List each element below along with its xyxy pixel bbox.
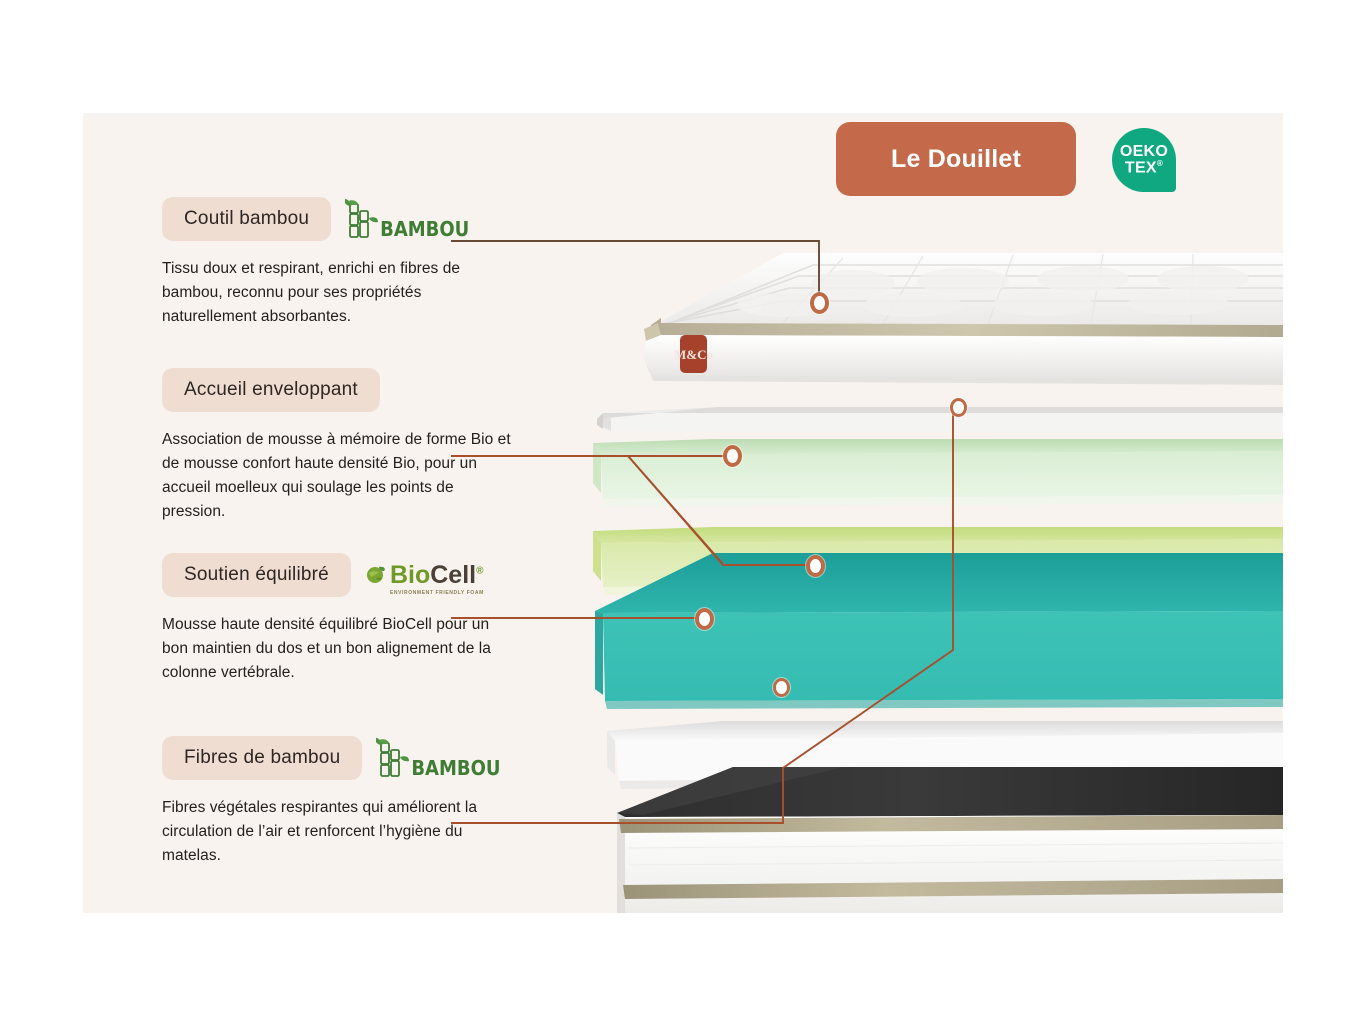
bamboo-icon xyxy=(345,197,379,241)
hotspot-bamboo-cover[interactable] xyxy=(810,292,829,314)
biocell-tagline: ENVIRONMENT FRIENDLY FOAM xyxy=(390,591,484,596)
feature-block-coutil-bambou: Coutil bambou BAMBOU Tissu doux xyxy=(162,197,532,329)
biocell-wordmark: BioCell® ENVIRONMENT FRIENDLY FOAM xyxy=(390,563,484,588)
feature-block-soutien-equilibre: Soutien équilibré BioCell® ENVIRONMENT F… xyxy=(162,553,532,685)
layer-biocell-support-core xyxy=(595,553,1283,709)
infographic-canvas: M&Co Le Douillet OEKO TEX® Coutil bambou xyxy=(83,113,1283,913)
feature-1-header: Coutil bambou BAMBOU xyxy=(162,197,532,241)
feature-3-chip[interactable]: Soutien équilibré xyxy=(162,553,351,597)
globe-leaf-icon xyxy=(365,565,385,585)
feature-1-description: Tissu doux et respirant, enrichi en fibr… xyxy=(162,257,514,329)
bambou-logo-1: BAMBOU xyxy=(345,197,469,241)
feature-3-description: Mousse haute densité équilibré BioCell p… xyxy=(162,613,514,685)
bambou-logo-text-2: BAMBOU xyxy=(411,758,500,778)
feature-block-fibres-de-bambou: Fibres de bambou BAMBOU Fibres xyxy=(162,736,532,868)
product-title-chip: Le Douillet xyxy=(836,122,1076,196)
feature-2-chip[interactable]: Accueil enveloppant xyxy=(162,368,380,412)
mco-badge-text: M&Co xyxy=(674,348,713,361)
layer-mattress-base xyxy=(617,767,1283,913)
hotspot-biocell-core[interactable] xyxy=(695,608,714,630)
feature-2-description: Association de mousse à mémoire de forme… xyxy=(162,428,514,524)
feature-4-description: Fibres végétales respirantes qui amélior… xyxy=(162,796,514,868)
feature-4-chip[interactable]: Fibres de bambou xyxy=(162,736,362,780)
feature-3-header: Soutien équilibré BioCell® ENVIRONMENT F… xyxy=(162,553,532,597)
feature-1-chip[interactable]: Coutil bambou xyxy=(162,197,331,241)
hotspot-fibre-callout-top[interactable] xyxy=(950,398,967,417)
bambou-logo-text-1: BAMBOU xyxy=(380,219,469,239)
bambou-logo-2: BAMBOU xyxy=(376,736,500,780)
hotspot-comfort-foam[interactable] xyxy=(806,555,825,577)
layer-memory-foam-bio xyxy=(593,439,1283,507)
hotspot-bamboo-fibre[interactable] xyxy=(773,678,790,697)
feature-block-accueil-enveloppant: Accueil enveloppant Association de mouss… xyxy=(162,368,532,524)
oeko-line-1: OEKO xyxy=(1120,144,1168,160)
oeko-tex-badge: OEKO TEX® xyxy=(1112,128,1176,192)
mco-brand-badge: M&Co xyxy=(680,335,707,373)
layer-bamboo-quilted-cover xyxy=(644,253,1283,385)
biocell-logo: BioCell® ENVIRONMENT FRIENDLY FOAM xyxy=(365,563,484,588)
layer-thin-white-foam xyxy=(597,407,1283,433)
feature-4-header: Fibres de bambou BAMBOU xyxy=(162,736,532,780)
hotspot-memory-foam[interactable] xyxy=(723,445,742,467)
bamboo-icon xyxy=(376,736,410,780)
oeko-line-2: TEX® xyxy=(1125,160,1163,177)
product-title: Le Douillet xyxy=(891,145,1021,174)
feature-2-header: Accueil enveloppant xyxy=(162,368,532,412)
